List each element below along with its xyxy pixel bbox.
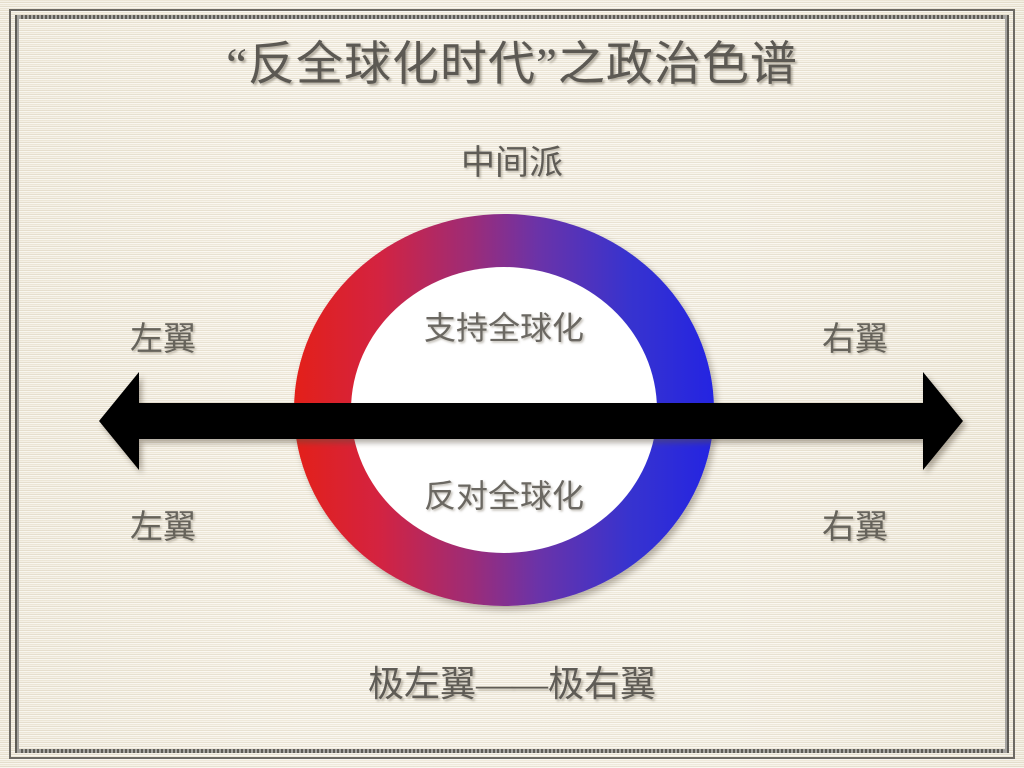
label-left-wing-upper: 左翼 xyxy=(130,312,196,360)
bottom-caption: 极左翼——极右翼 xyxy=(0,655,1024,707)
label-oppose-globalization: 反对全球化 xyxy=(351,471,657,517)
label-centrist: 中间派 xyxy=(0,135,1024,184)
slide-canvas: “反全球化时代”之政治色谱 中间派 支持全球化 反对全球化 左翼 右翼 左翼 右… xyxy=(0,0,1024,768)
label-right-wing-lower: 右翼 xyxy=(822,500,888,548)
label-support-globalization: 支持全球化 xyxy=(351,303,657,349)
label-right-wing-upper: 右翼 xyxy=(822,312,888,360)
horizontal-double-arrow xyxy=(99,372,963,470)
double-arrow-icon xyxy=(99,372,963,470)
label-left-wing-lower: 左翼 xyxy=(130,500,196,548)
page-title: “反全球化时代”之政治色谱 xyxy=(0,38,1024,92)
